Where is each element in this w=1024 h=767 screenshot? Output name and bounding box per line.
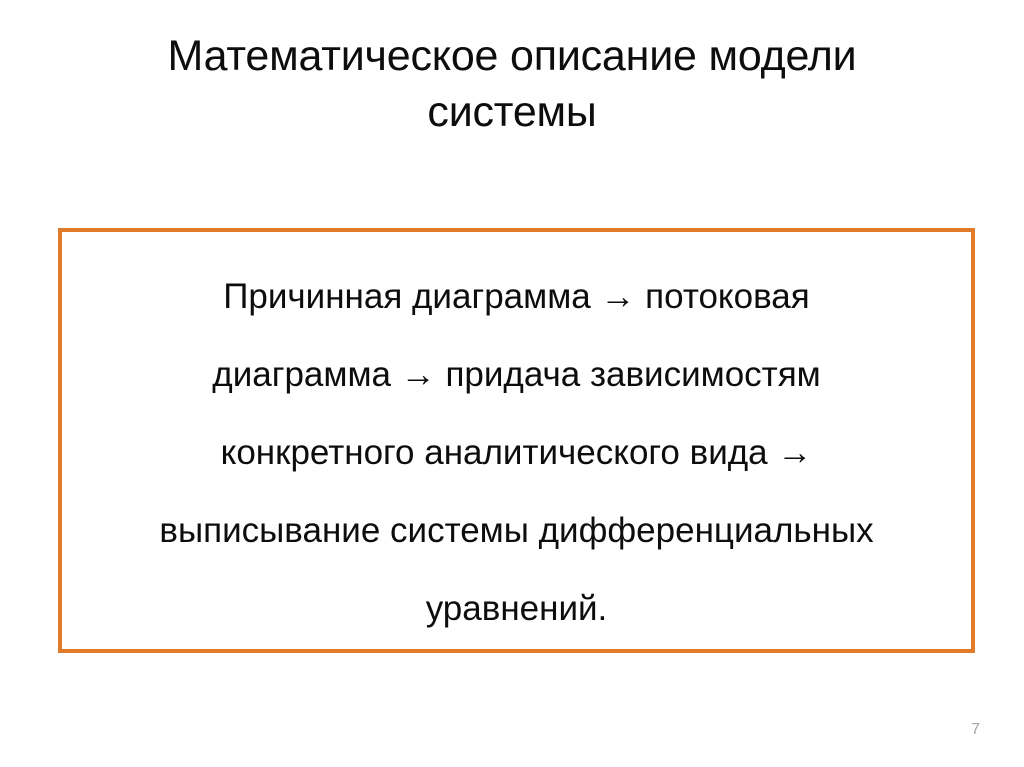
content-line-3: конкретного аналитического вида → <box>62 414 971 492</box>
content-body-text: Причинная диаграмма → потоковая диаграмм… <box>62 258 971 648</box>
content-line-2: диаграмма → придача зависимостям <box>62 336 971 414</box>
content-line-4: выписывание системы дифференциальных <box>62 492 971 570</box>
page-title-line-1: Математическое описание модели <box>60 28 964 84</box>
content-line-5: уравнений. <box>62 570 971 648</box>
slide: Математическое описание модели системы П… <box>0 0 1024 767</box>
content-line-1: Причинная диаграмма → потоковая <box>62 258 971 336</box>
content-box: Причинная диаграмма → потоковая диаграмм… <box>58 228 975 653</box>
page-number: 7 <box>971 721 980 739</box>
page-title: Математическое описание модели системы <box>60 28 964 140</box>
page-title-line-2: системы <box>60 84 964 140</box>
